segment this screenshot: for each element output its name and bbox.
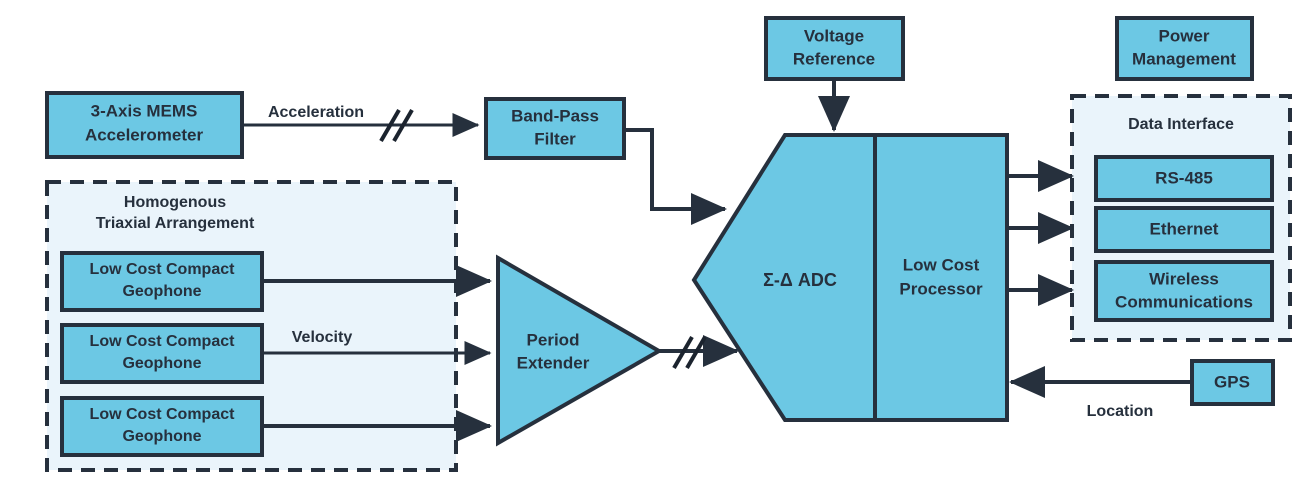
group-triaxial-label-line2: Triaxial Arrangement bbox=[96, 215, 255, 232]
signal-label-location: Location bbox=[1087, 403, 1154, 420]
power-management-label-line2: Management bbox=[1132, 49, 1236, 68]
gps-label: GPS bbox=[1214, 372, 1250, 391]
geophone-3-label-line1: Low Cost Compact bbox=[90, 406, 236, 423]
period-extender-label-line2: Extender bbox=[517, 353, 590, 372]
power-management-label-line1: Power bbox=[1158, 26, 1209, 45]
wire-filter-to-adc bbox=[624, 130, 725, 209]
block-ethernet[interactable]: Ethernet bbox=[1096, 208, 1272, 251]
block-period-extender[interactable]: Period Extender bbox=[498, 258, 659, 443]
block-wireless-communications[interactable]: Wireless Communications bbox=[1096, 262, 1272, 320]
block-geophone-1[interactable]: Low Cost Compact Geophone bbox=[62, 253, 262, 310]
geophone-1-label-line2: Geophone bbox=[122, 283, 201, 300]
period-extender-label-line1: Period bbox=[527, 330, 580, 349]
signal-label-acceleration: Acceleration bbox=[268, 104, 364, 121]
block-geophone-2[interactable]: Low Cost Compact Geophone bbox=[62, 325, 262, 382]
adc-label: Σ-Δ ADC bbox=[763, 270, 837, 290]
adc-processor-body[interactable] bbox=[694, 135, 1007, 420]
ethernet-label: Ethernet bbox=[1150, 219, 1219, 238]
signal-label-velocity: Velocity bbox=[292, 329, 353, 346]
geophone-2-label-line1: Low Cost Compact bbox=[90, 333, 236, 350]
wireless-label-line2: Communications bbox=[1115, 292, 1253, 311]
block-voltage-reference[interactable]: Voltage Reference bbox=[766, 18, 903, 79]
geophone-1-label-line1: Low Cost Compact bbox=[90, 261, 236, 278]
block-diagram-canvas: Homogenous Triaxial Arrangement Low Cost… bbox=[0, 0, 1312, 484]
group-triaxial-label-line1: Homogenous bbox=[124, 194, 226, 211]
group-data-interface-label: Data Interface bbox=[1128, 116, 1234, 133]
accelerometer-label-line2: Accelerometer bbox=[85, 125, 204, 144]
block-accelerometer[interactable]: 3-Axis MEMS Accelerometer bbox=[47, 93, 242, 157]
geophone-2-label-line2: Geophone bbox=[122, 355, 201, 372]
wireless-label-line1: Wireless bbox=[1149, 269, 1219, 288]
rs485-label: RS-485 bbox=[1155, 168, 1213, 187]
voltage-reference-label-line2: Reference bbox=[793, 49, 875, 68]
block-band-pass-filter[interactable]: Band-Pass Filter bbox=[486, 99, 624, 158]
voltage-reference-label-line1: Voltage bbox=[804, 26, 864, 45]
block-power-management[interactable]: Power Management bbox=[1117, 18, 1252, 79]
block-adc-processor-assembly: Σ-Δ ADC Low Cost Processor bbox=[694, 135, 1007, 420]
band-pass-filter-label-line1: Band-Pass bbox=[511, 106, 599, 125]
block-geophone-3[interactable]: Low Cost Compact Geophone bbox=[62, 398, 262, 455]
diagram-svg: Homogenous Triaxial Arrangement Low Cost… bbox=[0, 0, 1312, 484]
accelerometer-label-line1: 3-Axis MEMS bbox=[91, 101, 198, 120]
processor-label-line2: Processor bbox=[899, 279, 983, 298]
processor-label-line1: Low Cost bbox=[903, 255, 980, 274]
band-pass-filter-label-line2: Filter bbox=[534, 129, 576, 148]
block-gps[interactable]: GPS bbox=[1192, 361, 1273, 404]
block-rs485[interactable]: RS-485 bbox=[1096, 157, 1272, 200]
geophone-3-label-line2: Geophone bbox=[122, 428, 201, 445]
